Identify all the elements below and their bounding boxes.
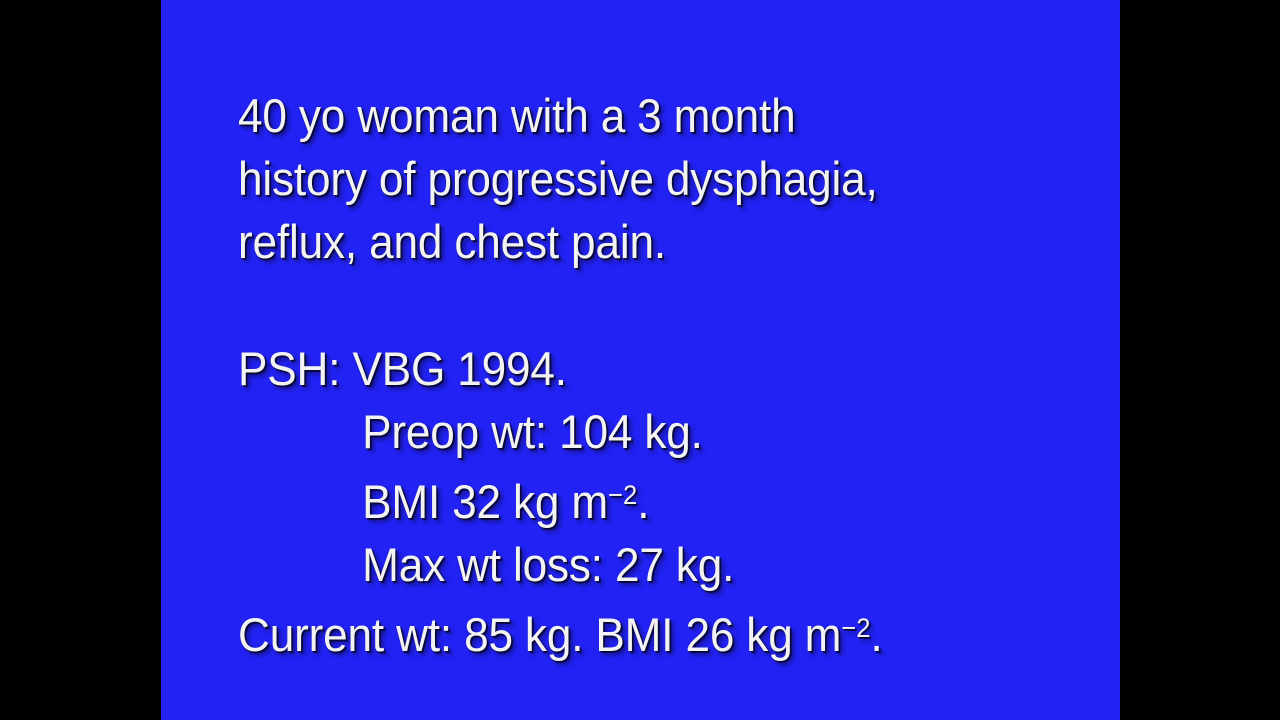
slide-line-text: 40 yo woman with a 3 month: [238, 89, 795, 142]
paragraph-past-surgical-history: PSH: VBG 1994.Preop wt: 104 kg.BMI 32 kg…: [238, 337, 1138, 666]
paragraph-patient-history: 40 yo woman with a 3 monthhistory of pro…: [238, 84, 1138, 273]
slide-line-text: reflux, and chest pain.: [238, 215, 666, 268]
slide-line-text: Current wt: 85 kg. BMI 26 kg m: [238, 608, 841, 661]
slide-line-text: PSH: VBG 1994.: [238, 342, 567, 395]
slide-text-line: Preop wt: 104 kg.: [238, 400, 1084, 463]
slide-text-line: Max wt loss: 27 kg.: [238, 533, 1084, 596]
letterbox-bar-right: [1120, 0, 1280, 720]
slide-text-line: Current wt: 85 kg. BMI 26 kg m−2.: [238, 596, 1084, 666]
superscript-exponent: −2: [841, 612, 870, 643]
slide-text-line: reflux, and chest pain.: [238, 210, 1084, 273]
slide-line-text: history of progressive dysphagia,: [238, 152, 878, 205]
slide-frame: 40 yo woman with a 3 monthhistory of pro…: [0, 0, 1280, 720]
slide-text-line: PSH: VBG 1994.: [238, 337, 1084, 400]
slide-line-text-tail: .: [637, 475, 649, 528]
slide-text-line: 40 yo woman with a 3 month: [238, 84, 1084, 147]
slide-text-line: BMI 32 kg m−2.: [238, 463, 1084, 533]
slide-line-text: Preop wt: 104 kg.: [362, 405, 703, 458]
letterbox-bar-left: [0, 0, 161, 720]
slide-line-text: BMI 32 kg m: [362, 475, 608, 528]
slide-line-text-tail: .: [871, 608, 883, 661]
slide-text-line: history of progressive dysphagia,: [238, 147, 1084, 210]
slide-line-text: Max wt loss: 27 kg.: [362, 538, 734, 591]
slide-canvas: 40 yo woman with a 3 monthhistory of pro…: [161, 0, 1120, 720]
superscript-exponent: −2: [608, 479, 637, 510]
